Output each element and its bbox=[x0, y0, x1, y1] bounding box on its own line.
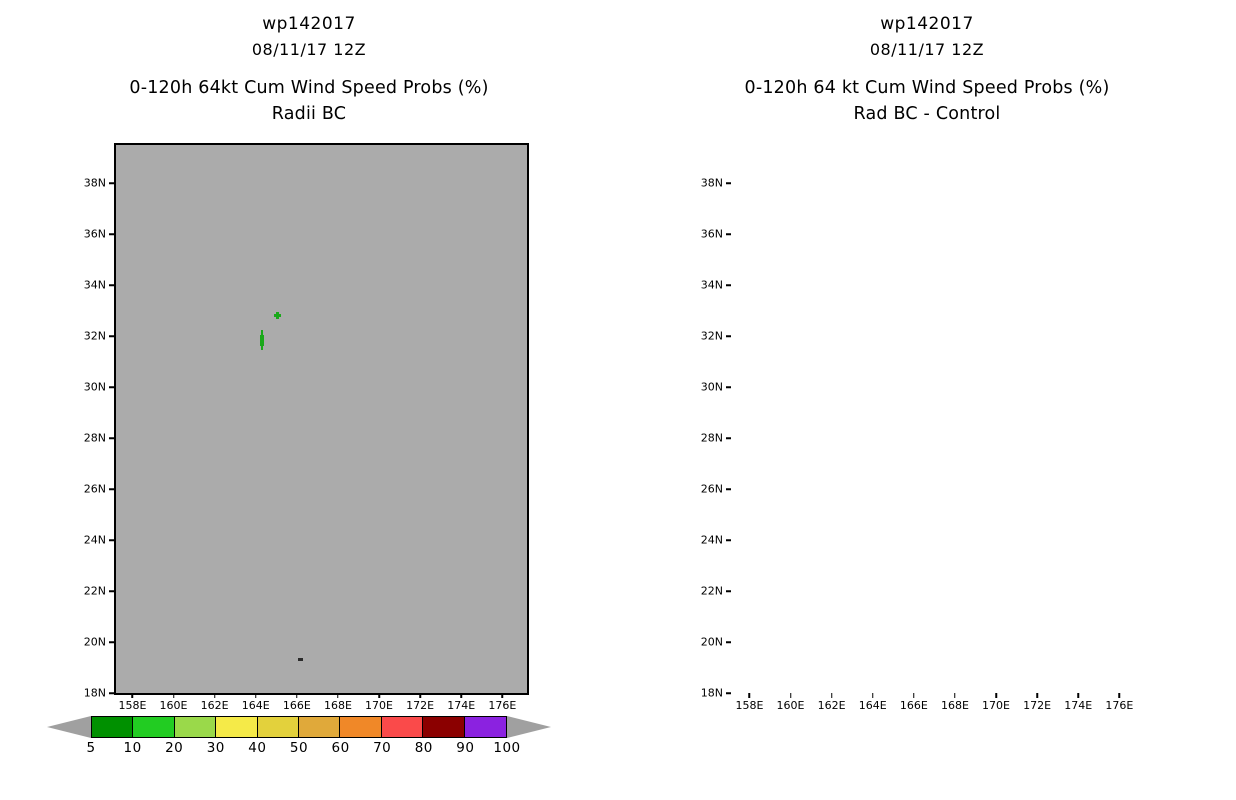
colorbar-band bbox=[382, 717, 423, 737]
y-axis-tick-label: 22N bbox=[70, 585, 106, 598]
prob-marker-24n bbox=[260, 330, 264, 350]
x-axis-tick-label: 166E bbox=[283, 699, 311, 712]
x-axis-tick-label: 162E bbox=[201, 699, 229, 712]
y-axis-tick-mark bbox=[109, 590, 114, 592]
y-axis-tick-label: 18N bbox=[687, 687, 723, 700]
x-axis-tick-mark bbox=[173, 693, 175, 698]
x-axis-tick-mark bbox=[995, 693, 997, 698]
plot-title: 0-120h 64kt Cum Wind Speed Probs (%) bbox=[0, 75, 618, 101]
x-axis-tick-label: 172E bbox=[1023, 699, 1051, 712]
x-axis-tick-mark bbox=[337, 693, 339, 698]
y-axis-tick-mark bbox=[726, 386, 731, 388]
y-axis-tick-label: 30N bbox=[70, 381, 106, 394]
y-axis-tick-mark bbox=[109, 692, 114, 694]
colorbar-band bbox=[340, 717, 381, 737]
x-axis-tick-mark bbox=[954, 693, 956, 698]
colorbar-tick-label: 90 bbox=[456, 740, 474, 756]
x-axis-tick-label: 158E bbox=[735, 699, 763, 712]
plot-subtitle: Rad BC - Control bbox=[618, 101, 1236, 127]
colorbar-tick-label: 60 bbox=[332, 740, 350, 756]
plot-subtitle: Radii BC bbox=[0, 101, 618, 127]
x-axis-tick-mark bbox=[1036, 693, 1038, 698]
x-axis-tick-mark bbox=[419, 693, 421, 698]
y-axis-tick-label: 20N bbox=[687, 636, 723, 649]
y-axis-tick-label: 24N bbox=[687, 534, 723, 547]
y-axis-tick-mark bbox=[109, 284, 114, 286]
colorbar-band bbox=[175, 717, 216, 737]
x-axis-tick-mark bbox=[214, 693, 216, 698]
y-axis-tick-mark bbox=[726, 284, 731, 286]
y-axis-tick-mark bbox=[726, 590, 731, 592]
colorbar-arrow-left-icon bbox=[47, 716, 91, 738]
y-axis-tick-mark bbox=[726, 182, 731, 184]
colorbar-band bbox=[299, 717, 340, 737]
x-axis-tick-label: 176E bbox=[1105, 699, 1133, 712]
colorbar-probability[interactable]: 5102030405060708090100 bbox=[47, 716, 551, 760]
datetime-label: 08/11/17 12Z bbox=[618, 37, 1236, 62]
colorbar-tick-label: 80 bbox=[415, 740, 433, 756]
x-axis-tick-label: 172E bbox=[406, 699, 434, 712]
y-axis-tick-mark bbox=[726, 488, 731, 490]
y-axis-tick-label: 20N bbox=[70, 636, 106, 649]
y-axis-tick-mark bbox=[109, 335, 114, 337]
colorbar-band bbox=[258, 717, 299, 737]
y-axis-tick-mark bbox=[726, 335, 731, 337]
x-axis-tick-label: 162E bbox=[818, 699, 846, 712]
x-axis-tick-mark bbox=[255, 693, 257, 698]
colorbar-band bbox=[92, 717, 133, 737]
y-axis-tick-label: 22N bbox=[687, 585, 723, 598]
colorbar-band bbox=[423, 717, 464, 737]
y-axis-tick-mark bbox=[109, 488, 114, 490]
x-axis-tick-mark bbox=[1119, 693, 1121, 698]
x-axis-tick-label: 168E bbox=[941, 699, 969, 712]
y-axis-tick-label: 24N bbox=[70, 534, 106, 547]
colorbar-band bbox=[133, 717, 174, 737]
x-axis-tick-mark bbox=[831, 693, 833, 698]
y-axis-tick-label: 26N bbox=[70, 483, 106, 496]
colorbar-tick-label: 10 bbox=[124, 740, 142, 756]
x-axis-tick-mark bbox=[790, 693, 792, 698]
storm-id-label: wp142017 bbox=[618, 12, 1236, 37]
y-axis-tick-mark bbox=[726, 692, 731, 694]
x-axis-tick-mark bbox=[378, 693, 380, 698]
colorbar-tick-label: 20 bbox=[165, 740, 183, 756]
colorbar-tick-label: 100 bbox=[493, 740, 520, 756]
y-axis-tick-mark bbox=[109, 386, 114, 388]
datetime-label: 08/11/17 12Z bbox=[0, 37, 618, 62]
y-axis-tick-label: 38N bbox=[70, 177, 106, 190]
y-axis-tick-label: 28N bbox=[70, 432, 106, 445]
y-axis-tick-mark bbox=[109, 437, 114, 439]
x-axis-tick-label: 160E bbox=[160, 699, 188, 712]
y-axis-tick-mark bbox=[109, 233, 114, 235]
y-axis-tick-label: 34N bbox=[687, 279, 723, 292]
x-axis-tick-mark bbox=[749, 693, 751, 698]
storm-id-label: wp142017 bbox=[0, 12, 618, 37]
y-axis-tick-label: 38N bbox=[687, 177, 723, 190]
x-axis-tick-mark bbox=[296, 693, 298, 698]
y-axis-tick-label: 36N bbox=[70, 228, 106, 241]
x-axis-tick-mark bbox=[132, 693, 134, 698]
x-axis-tick-label: 170E bbox=[365, 699, 393, 712]
colorbar-band bbox=[216, 717, 257, 737]
y-axis-tick-label: 18N bbox=[70, 687, 106, 700]
colorbar-tick-label: 5 bbox=[86, 740, 95, 756]
colorbar-labels: 5102030405060708090100 bbox=[47, 740, 551, 760]
x-axis-tick-label: 168E bbox=[324, 699, 352, 712]
y-axis-tick-label: 32N bbox=[687, 330, 723, 343]
island-dot bbox=[298, 658, 303, 661]
x-axis-tick-label: 176E bbox=[488, 699, 516, 712]
y-axis-tick-mark bbox=[726, 641, 731, 643]
y-axis-tick-mark bbox=[109, 182, 114, 184]
x-axis-tick-mark bbox=[913, 693, 915, 698]
y-axis-tick-label: 26N bbox=[687, 483, 723, 496]
x-axis-tick-mark bbox=[1077, 693, 1079, 698]
colorbar-tick-label: 30 bbox=[207, 740, 225, 756]
x-axis-tick-label: 160E bbox=[777, 699, 805, 712]
y-axis-tick-mark bbox=[726, 539, 731, 541]
y-axis-tick-label: 30N bbox=[687, 381, 723, 394]
x-axis-tick-label: 174E bbox=[447, 699, 475, 712]
x-axis-tick-label: 174E bbox=[1064, 699, 1092, 712]
x-axis-tick-mark bbox=[502, 693, 504, 698]
y-axis-tick-mark bbox=[109, 641, 114, 643]
colorbar-band bbox=[465, 717, 506, 737]
panel-left: wp142017 08/11/17 12Z 0-120h 64kt Cum Wi… bbox=[0, 0, 618, 800]
plot-title: 0-120h 64 kt Cum Wind Speed Probs (%) bbox=[618, 75, 1236, 101]
panel-right-titles: wp142017 08/11/17 12Z 0-120h 64 kt Cum W… bbox=[618, 12, 1236, 127]
panel-left-titles: wp142017 08/11/17 12Z 0-120h 64kt Cum Wi… bbox=[0, 12, 618, 127]
colorbar-tick-label: 50 bbox=[290, 740, 308, 756]
y-axis-tick-mark bbox=[109, 539, 114, 541]
y-axis-tick-label: 34N bbox=[70, 279, 106, 292]
y-axis-tick-mark bbox=[726, 437, 731, 439]
colorbar-bands-row bbox=[47, 716, 551, 738]
y-axis-tick-mark bbox=[726, 233, 731, 235]
x-axis-tick-label: 166E bbox=[900, 699, 928, 712]
y-axis-tick-label: 28N bbox=[687, 432, 723, 445]
map-plot-radii-bc[interactable] bbox=[114, 143, 529, 695]
colorbar-arrow-right-icon bbox=[507, 716, 551, 738]
panel-right: wp142017 08/11/17 12Z 0-120h 64 kt Cum W… bbox=[618, 0, 1236, 800]
y-axis-tick-label: 36N bbox=[687, 228, 723, 241]
y-axis-tick-label: 32N bbox=[70, 330, 106, 343]
x-axis-tick-mark bbox=[872, 693, 874, 698]
x-axis-tick-mark bbox=[460, 693, 462, 698]
x-axis-tick-label: 170E bbox=[982, 699, 1010, 712]
colorbar-bands bbox=[91, 716, 507, 738]
colorbar-tick-label: 70 bbox=[373, 740, 391, 756]
x-axis-tick-label: 164E bbox=[242, 699, 270, 712]
prob-marker-25n bbox=[274, 312, 281, 319]
x-axis-tick-label: 164E bbox=[859, 699, 887, 712]
colorbar-tick-label: 40 bbox=[248, 740, 266, 756]
x-axis-tick-label: 158E bbox=[118, 699, 146, 712]
